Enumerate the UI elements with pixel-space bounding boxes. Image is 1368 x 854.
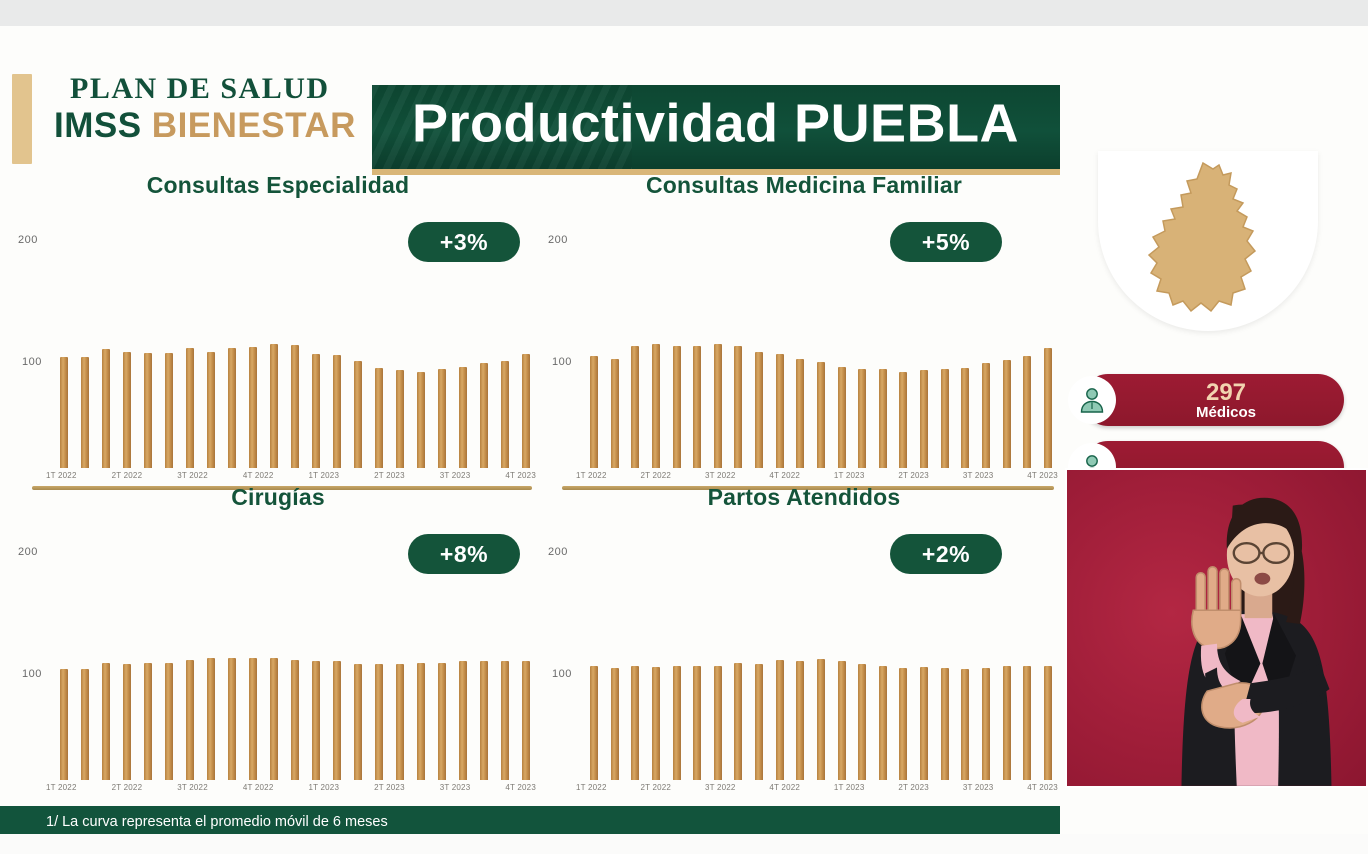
x-tick-label: 3T 2023: [440, 783, 471, 792]
x-axis-labels: 1T 20222T 20223T 20224T 20221T 20232T 20…: [576, 471, 1058, 480]
y-tick-100: 100: [22, 668, 42, 680]
x-tick-label: 3T 2022: [177, 783, 208, 792]
bar: [207, 658, 215, 780]
bar: [941, 668, 949, 780]
x-tick-label: 2T 2023: [898, 471, 929, 480]
bar: [1023, 356, 1031, 468]
chart-cirugias: Cirugías +8% 200 100 1T 20222T 20223T 20…: [18, 484, 538, 814]
bar: [631, 666, 639, 780]
bar: [899, 668, 907, 780]
y-tick-200: 200: [18, 546, 38, 558]
logo-imss-text: IMSS: [54, 106, 152, 145]
bar: [838, 367, 846, 468]
y-tick-100: 100: [552, 668, 572, 680]
bar: [144, 353, 152, 468]
bar: [207, 352, 215, 468]
bar: [438, 663, 446, 780]
bar: [734, 663, 742, 780]
imss-bienestar-logo: PLAN DE SALUD IMSS BIENESTAR: [12, 70, 362, 168]
bar: [375, 368, 383, 468]
bar: [673, 666, 681, 780]
bar: [501, 661, 509, 780]
x-tick-label: 3T 2023: [440, 471, 471, 480]
bar: [165, 663, 173, 780]
bar: [879, 369, 887, 468]
bar: [693, 346, 701, 468]
bar: [838, 661, 846, 780]
bar: [333, 661, 341, 780]
x-tick-label: 2T 2023: [374, 783, 405, 792]
bar: [249, 347, 257, 468]
bar: [102, 663, 110, 780]
bar: [270, 658, 278, 780]
bar: [714, 344, 722, 468]
puebla-state-map-icon: [1133, 159, 1283, 327]
logo-bienestar-text: BIENESTAR: [152, 106, 356, 145]
chart-title: Cirugías: [18, 484, 538, 511]
bar: [522, 354, 530, 468]
bar: [941, 369, 949, 468]
bar: [693, 666, 701, 780]
bar: [920, 667, 928, 780]
y-tick-200: 200: [548, 546, 568, 558]
bar: [417, 372, 425, 468]
stat-pill-medicos: 297 Médicos: [1082, 374, 1344, 426]
footer-note-1: 1/ La curva representa el promedio móvil…: [46, 812, 1060, 833]
x-tick-label: 2T 2023: [374, 471, 405, 480]
y-tick-100: 100: [552, 356, 572, 368]
bar: [920, 370, 928, 468]
bar: [1044, 666, 1052, 780]
x-tick-label: 4T 2022: [769, 783, 800, 792]
bar: [333, 355, 341, 468]
window-top-band: [0, 0, 1368, 27]
bar: [81, 669, 89, 780]
bar: [186, 348, 194, 468]
y-tick-200: 200: [18, 234, 38, 246]
x-tick-label: 4T 2022: [243, 783, 274, 792]
bar: [375, 664, 383, 780]
bar: [776, 354, 784, 468]
x-tick-label: 2T 2023: [898, 783, 929, 792]
stat-text: 297 Médicos: [1082, 380, 1344, 421]
x-tick-label: 2T 2022: [112, 471, 143, 480]
bar: [714, 666, 722, 780]
bars-container: [60, 240, 530, 468]
doctor-icon: [1068, 376, 1116, 424]
sign-language-interpreter-video[interactable]: [1065, 468, 1368, 788]
logo-plan-de-salud-text: PLAN DE SALUD: [70, 72, 330, 106]
bar: [102, 349, 110, 468]
bar: [501, 361, 509, 468]
x-tick-label: 4T 2023: [1027, 471, 1058, 480]
x-axis-labels: 1T 20222T 20223T 20224T 20221T 20232T 20…: [46, 471, 536, 480]
bar: [312, 354, 320, 468]
x-tick-label: 2T 2022: [640, 471, 671, 480]
x-tick-label: 3T 2023: [963, 783, 994, 792]
bar: [312, 661, 320, 780]
bar: [899, 372, 907, 468]
x-axis-labels: 1T 20222T 20223T 20224T 20221T 20232T 20…: [46, 783, 536, 792]
bar: [1003, 666, 1011, 780]
slide-screenshot: PLAN DE SALUD IMSS BIENESTAR Productivid…: [0, 0, 1368, 854]
bar: [396, 370, 404, 468]
bar: [796, 359, 804, 468]
x-tick-label: 1T 2023: [834, 471, 865, 480]
bar: [817, 659, 825, 780]
bars-container: [60, 552, 530, 780]
bar: [652, 344, 660, 468]
x-tick-label: 3T 2022: [705, 471, 736, 480]
x-tick-label: 1T 2022: [576, 783, 607, 792]
bar: [1023, 666, 1031, 780]
bar: [480, 661, 488, 780]
bar: [270, 344, 278, 468]
x-tick-label: 3T 2023: [963, 471, 994, 480]
bars-container: [590, 240, 1052, 468]
bar: [228, 658, 236, 780]
bar: [291, 660, 299, 780]
y-tick-100: 100: [22, 356, 42, 368]
x-tick-label: 3T 2022: [177, 471, 208, 480]
x-tick-label: 4T 2023: [505, 783, 536, 792]
chart-consultas-medicina-familiar: Consultas Medicina Familiar +5% 200 100 …: [548, 172, 1060, 502]
bar: [123, 352, 131, 468]
chart-title: Consultas Especialidad: [18, 172, 538, 199]
bar: [60, 669, 68, 780]
bar: [81, 357, 89, 468]
x-tick-label: 1T 2023: [309, 471, 340, 480]
x-tick-label: 2T 2022: [640, 783, 671, 792]
bar: [186, 660, 194, 780]
stat-value: 297: [1108, 380, 1344, 405]
bar: [652, 667, 660, 780]
bar: [982, 363, 990, 468]
bar: [755, 664, 763, 780]
bar: [522, 661, 530, 780]
bar: [734, 346, 742, 468]
x-tick-label: 3T 2022: [705, 783, 736, 792]
bar: [60, 357, 68, 468]
chart-title: Consultas Medicina Familiar: [548, 172, 1060, 199]
bars-container: [590, 552, 1052, 780]
x-tick-label: 4T 2022: [769, 471, 800, 480]
bar: [796, 661, 804, 780]
bar: [249, 658, 257, 780]
bar: [611, 668, 619, 780]
bar: [165, 353, 173, 468]
y-tick-200: 200: [548, 234, 568, 246]
bar: [438, 369, 446, 468]
x-tick-label: 2T 2022: [112, 783, 143, 792]
x-tick-label: 1T 2022: [46, 471, 77, 480]
bar: [858, 664, 866, 780]
x-tick-label: 4T 2022: [243, 471, 274, 480]
x-axis-labels: 1T 20222T 20223T 20224T 20221T 20232T 20…: [576, 783, 1058, 792]
bar: [396, 664, 404, 780]
x-tick-label: 1T 2023: [309, 783, 340, 792]
bar: [858, 369, 866, 468]
x-tick-label: 1T 2023: [834, 783, 865, 792]
bar: [291, 345, 299, 468]
bar: [480, 363, 488, 468]
window-bottom-band: [0, 834, 1368, 854]
bar: [611, 359, 619, 468]
bar: [673, 346, 681, 468]
bar: [961, 368, 969, 468]
x-tick-label: 4T 2023: [505, 471, 536, 480]
interpreter-figure: [1067, 470, 1366, 786]
footer-notes: 1/ La curva representa el promedio móvil…: [0, 806, 1060, 834]
stat-label: Médicos: [1108, 405, 1344, 421]
bar: [459, 661, 467, 780]
bar: [417, 663, 425, 780]
chart-partos-atendidos: Partos Atendidos +2% 200 100 1T 20222T 2…: [548, 484, 1060, 814]
bar: [982, 668, 990, 780]
chart-title: Partos Atendidos: [548, 484, 1060, 511]
page-title: Productividad PUEBLA: [412, 92, 1019, 154]
bar: [961, 669, 969, 780]
x-tick-label: 4T 2023: [1027, 783, 1058, 792]
title-banner: Productividad PUEBLA: [372, 85, 1150, 175]
bar: [354, 664, 362, 780]
bar: [631, 346, 639, 468]
logo-accent-bar: [12, 74, 32, 164]
logo-imss-bienestar-text: IMSS BIENESTAR: [54, 106, 356, 146]
bar: [459, 367, 467, 468]
bar: [755, 352, 763, 468]
bar: [776, 660, 784, 780]
bar: [1003, 360, 1011, 468]
bar: [123, 664, 131, 780]
bar: [590, 356, 598, 468]
bar: [817, 362, 825, 468]
x-tick-label: 1T 2022: [576, 471, 607, 480]
bar: [590, 666, 598, 780]
bar: [879, 666, 887, 780]
x-tick-label: 1T 2022: [46, 783, 77, 792]
map-card: [1098, 151, 1318, 331]
bar: [354, 361, 362, 468]
bar: [1044, 348, 1052, 468]
bar: [144, 663, 152, 780]
chart-consultas-especialidad: Consultas Especialidad +3% 200 100 1T 20…: [18, 172, 538, 502]
bar: [228, 348, 236, 468]
